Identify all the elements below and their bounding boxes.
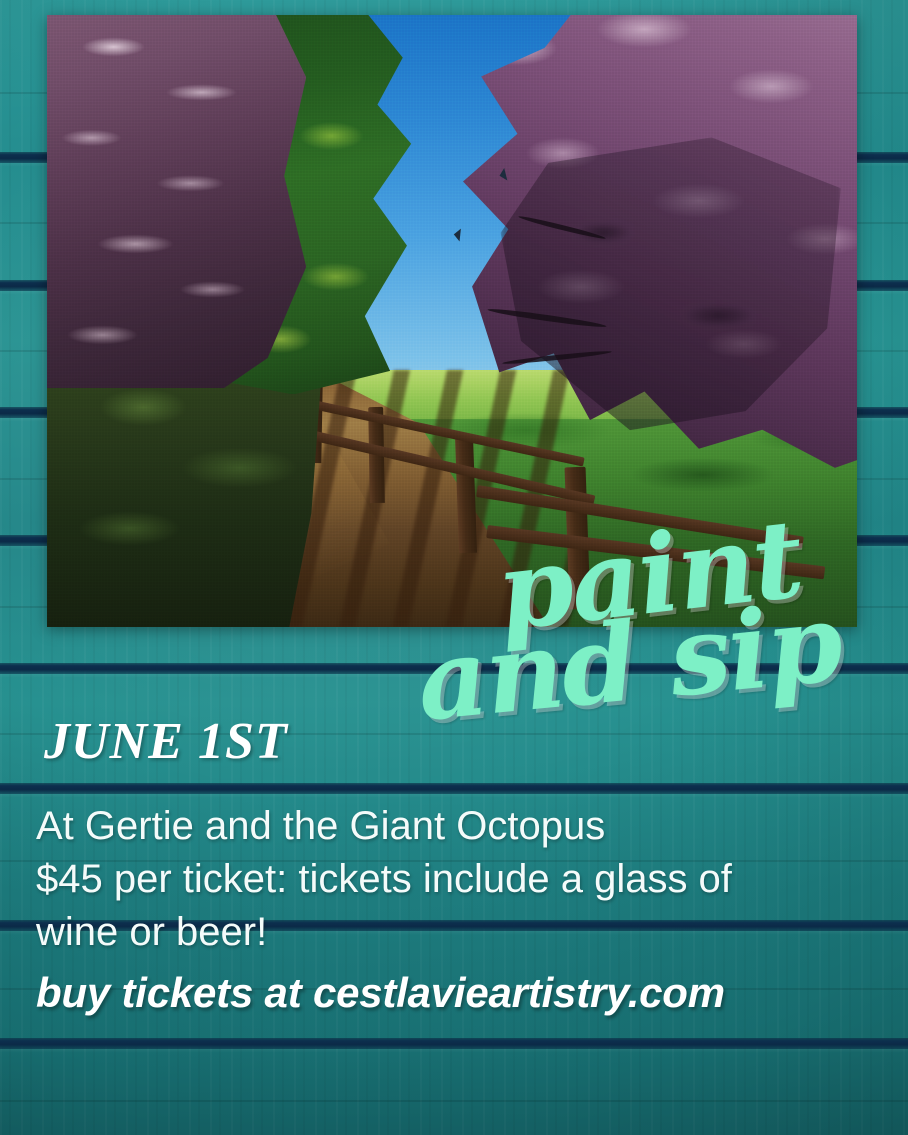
- artwork-canvas: ⏴ ⏴: [47, 15, 857, 627]
- left-blossom-tree-layer: [47, 15, 306, 388]
- event-date: JUNE 1ST: [44, 712, 288, 771]
- bird-icon: ⏴: [452, 227, 463, 246]
- poster-root: ⏴ ⏴ paint and sip JUNE 1ST At Gertie and…: [0, 0, 908, 1135]
- event-details-block: At Gertie and the Giant Octopus $45 per …: [36, 800, 886, 1019]
- plank-grain: [0, 1100, 908, 1102]
- plank-gap: [0, 783, 908, 794]
- detail-line-drink: wine or beer!: [36, 906, 886, 959]
- detail-line-price: $45 per ticket: tickets include a glass …: [36, 853, 886, 906]
- plank-gap: [0, 663, 908, 674]
- plank-gap: [0, 1038, 908, 1049]
- artwork-image: ⏴ ⏴: [47, 15, 857, 627]
- cta-buy-tickets[interactable]: buy tickets at cestlavieartistry.com: [36, 967, 886, 1019]
- detail-line-venue: At Gertie and the Giant Octopus: [36, 800, 886, 853]
